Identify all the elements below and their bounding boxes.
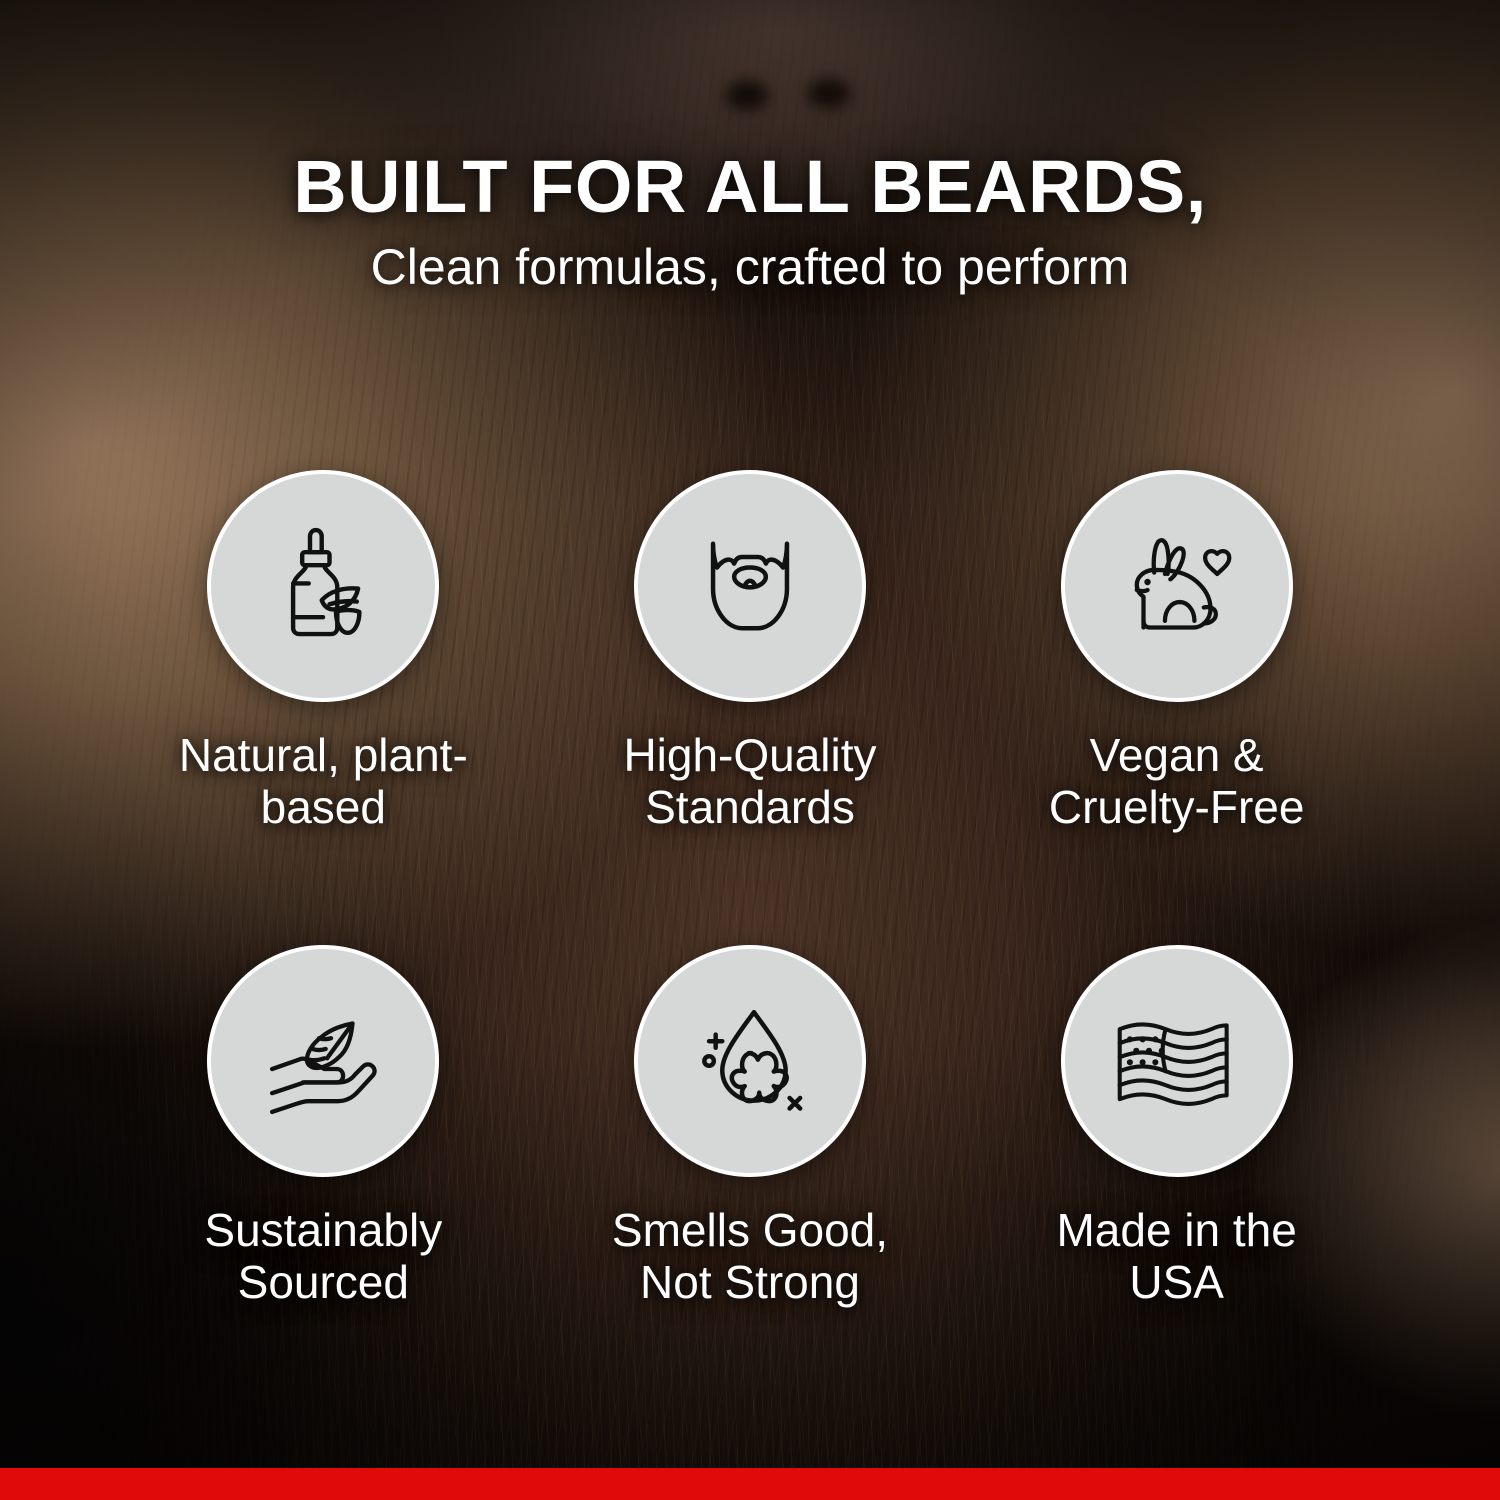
feature-icon-badge	[634, 470, 866, 702]
beard-icon	[684, 520, 816, 652]
feature-icon-badge	[207, 470, 439, 702]
feature-label: Natural, plant- based	[179, 730, 468, 833]
feature-item: High-Quality Standards	[537, 470, 964, 945]
feature-item: Made in the USA	[963, 945, 1390, 1420]
droplet-flower-icon	[684, 995, 816, 1127]
feature-item: Smells Good, Not Strong	[537, 945, 964, 1420]
feature-item: Sustainably Sourced	[110, 945, 537, 1420]
feature-icon-badge	[207, 945, 439, 1177]
usa-flag-icon	[1107, 991, 1247, 1131]
feature-item: Vegan & Cruelty-Free	[963, 470, 1390, 945]
feature-label: Smells Good, Not Strong	[612, 1205, 888, 1308]
feature-item: Natural, plant- based	[110, 470, 537, 945]
banner-header: BUILT FOR ALL BEARDS, Clean formulas, cr…	[0, 150, 1500, 295]
feature-icon-badge	[1061, 945, 1293, 1177]
feature-label: Made in the USA	[1056, 1205, 1296, 1308]
dropper-bottle-leaf-icon	[258, 521, 388, 651]
beard-product-feature-banner: BUILT FOR ALL BEARDS, Clean formulas, cr…	[0, 0, 1500, 1500]
subheadline: Clean formulas, crafted to perform	[0, 240, 1500, 295]
feature-label: Sustainably Sourced	[204, 1205, 442, 1308]
feature-icon-badge	[1061, 470, 1293, 702]
rabbit-heart-icon	[1110, 519, 1244, 653]
headline: BUILT FOR ALL BEARDS,	[0, 150, 1500, 224]
feature-grid: Natural, plant- based High-Quality Stand…	[110, 470, 1390, 1420]
feature-icon-badge	[634, 945, 866, 1177]
hand-feather-icon	[256, 994, 390, 1128]
feature-label: High-Quality Standards	[623, 730, 876, 833]
bottom-accent-bar	[0, 1468, 1500, 1500]
feature-label: Vegan & Cruelty-Free	[1049, 730, 1305, 833]
